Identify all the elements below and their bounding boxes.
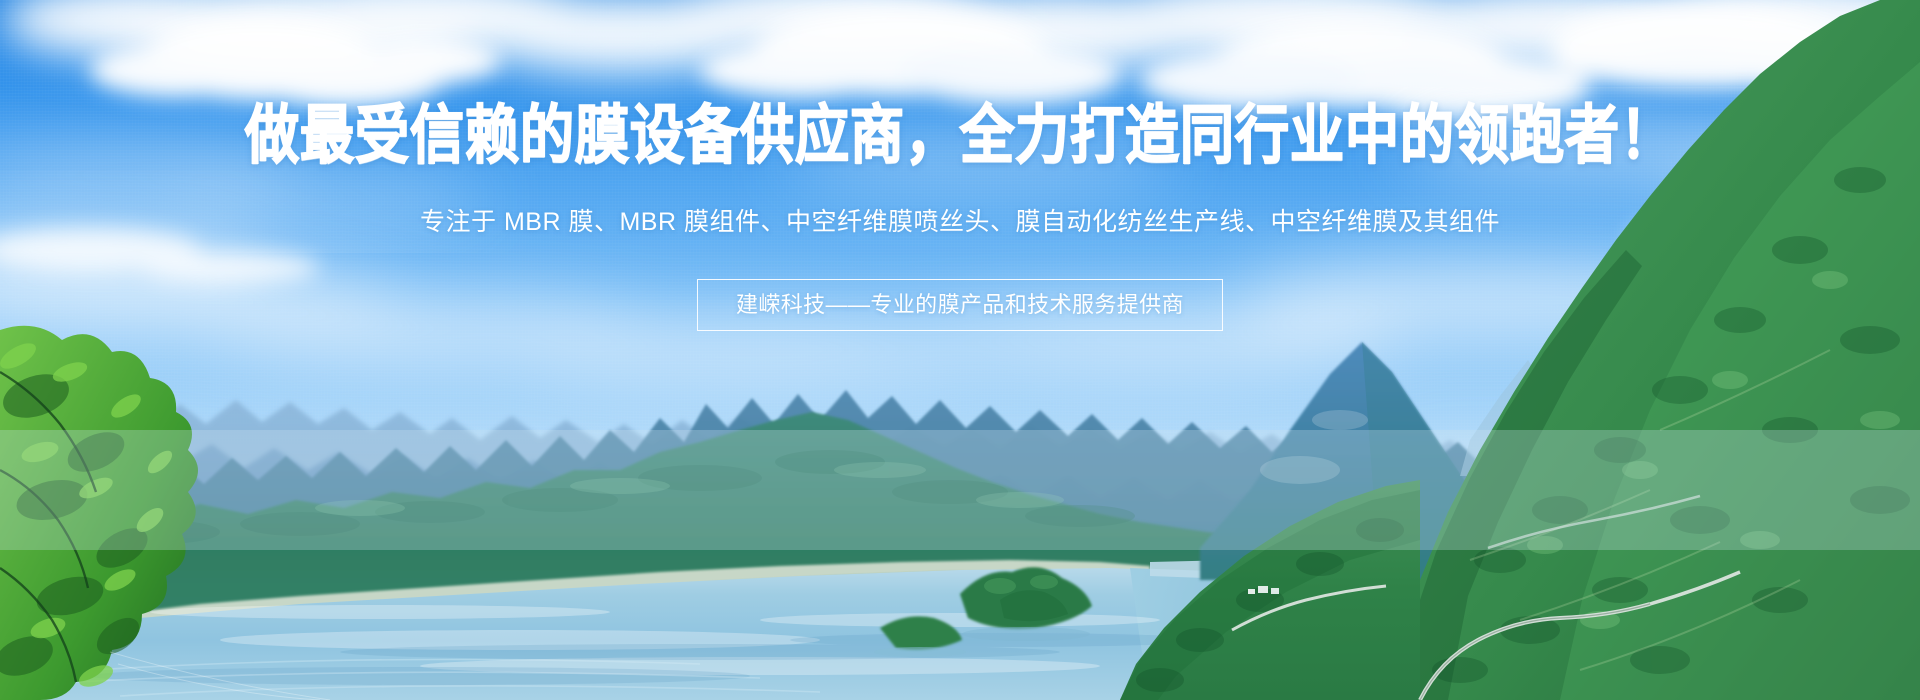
hero-banner: 做最受信赖的膜设备供应商，全力打造同行业中的领跑者！ 专注于 MBR 膜、MBR… (0, 0, 1920, 700)
banner-tagline-box[interactable]: 建嵘科技——专业的膜产品和技术服务提供商 (697, 279, 1223, 331)
green-foreground-mountain (1398, 0, 1920, 700)
landscape-layer (0, 0, 1920, 700)
